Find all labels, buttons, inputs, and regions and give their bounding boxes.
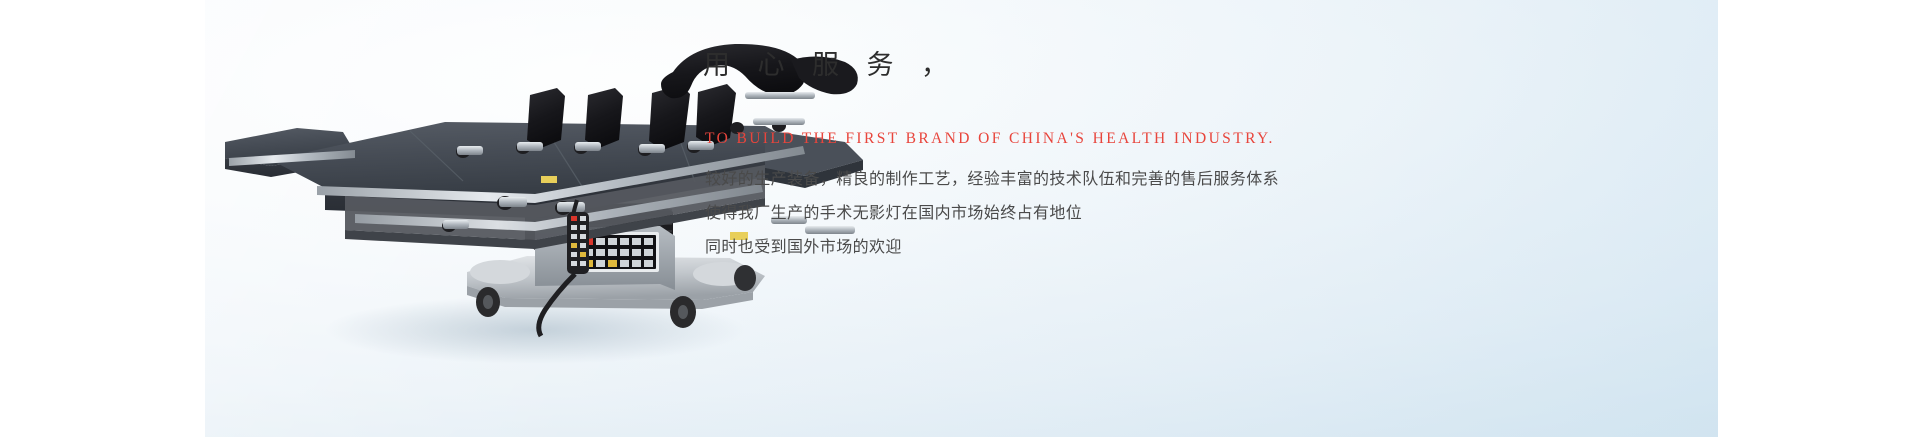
body-line-1: 较好的生产装备，精良的制作工艺，经验丰富的技术队伍和完善的售后服务体系: [705, 163, 1685, 197]
banner-tagline-english: TO BUILD THE FIRST BRAND OF CHINA'S HEAL…: [705, 128, 1275, 150]
promo-banner: 用 心 服 务 ， TO BUILD THE FIRST BRAND OF CH…: [205, 0, 1718, 437]
page-root: 用 心 服 务 ， TO BUILD THE FIRST BRAND OF CH…: [0, 0, 1920, 437]
banner-headline: 用 心 服 务 ，: [703, 45, 958, 85]
banner-body-text: 较好的生产装备，精良的制作工艺，经验丰富的技术队伍和完善的售后服务体系 使得我厂…: [705, 163, 1685, 265]
body-line-2: 使得我厂生产的手术无影灯在国内市场始终占有地位: [705, 197, 1685, 231]
banner-copy: 用 心 服 务 ， TO BUILD THE FIRST BRAND OF CH…: [703, 0, 1703, 437]
body-line-3: 同时也受到国外市场的欢迎: [705, 231, 1685, 265]
